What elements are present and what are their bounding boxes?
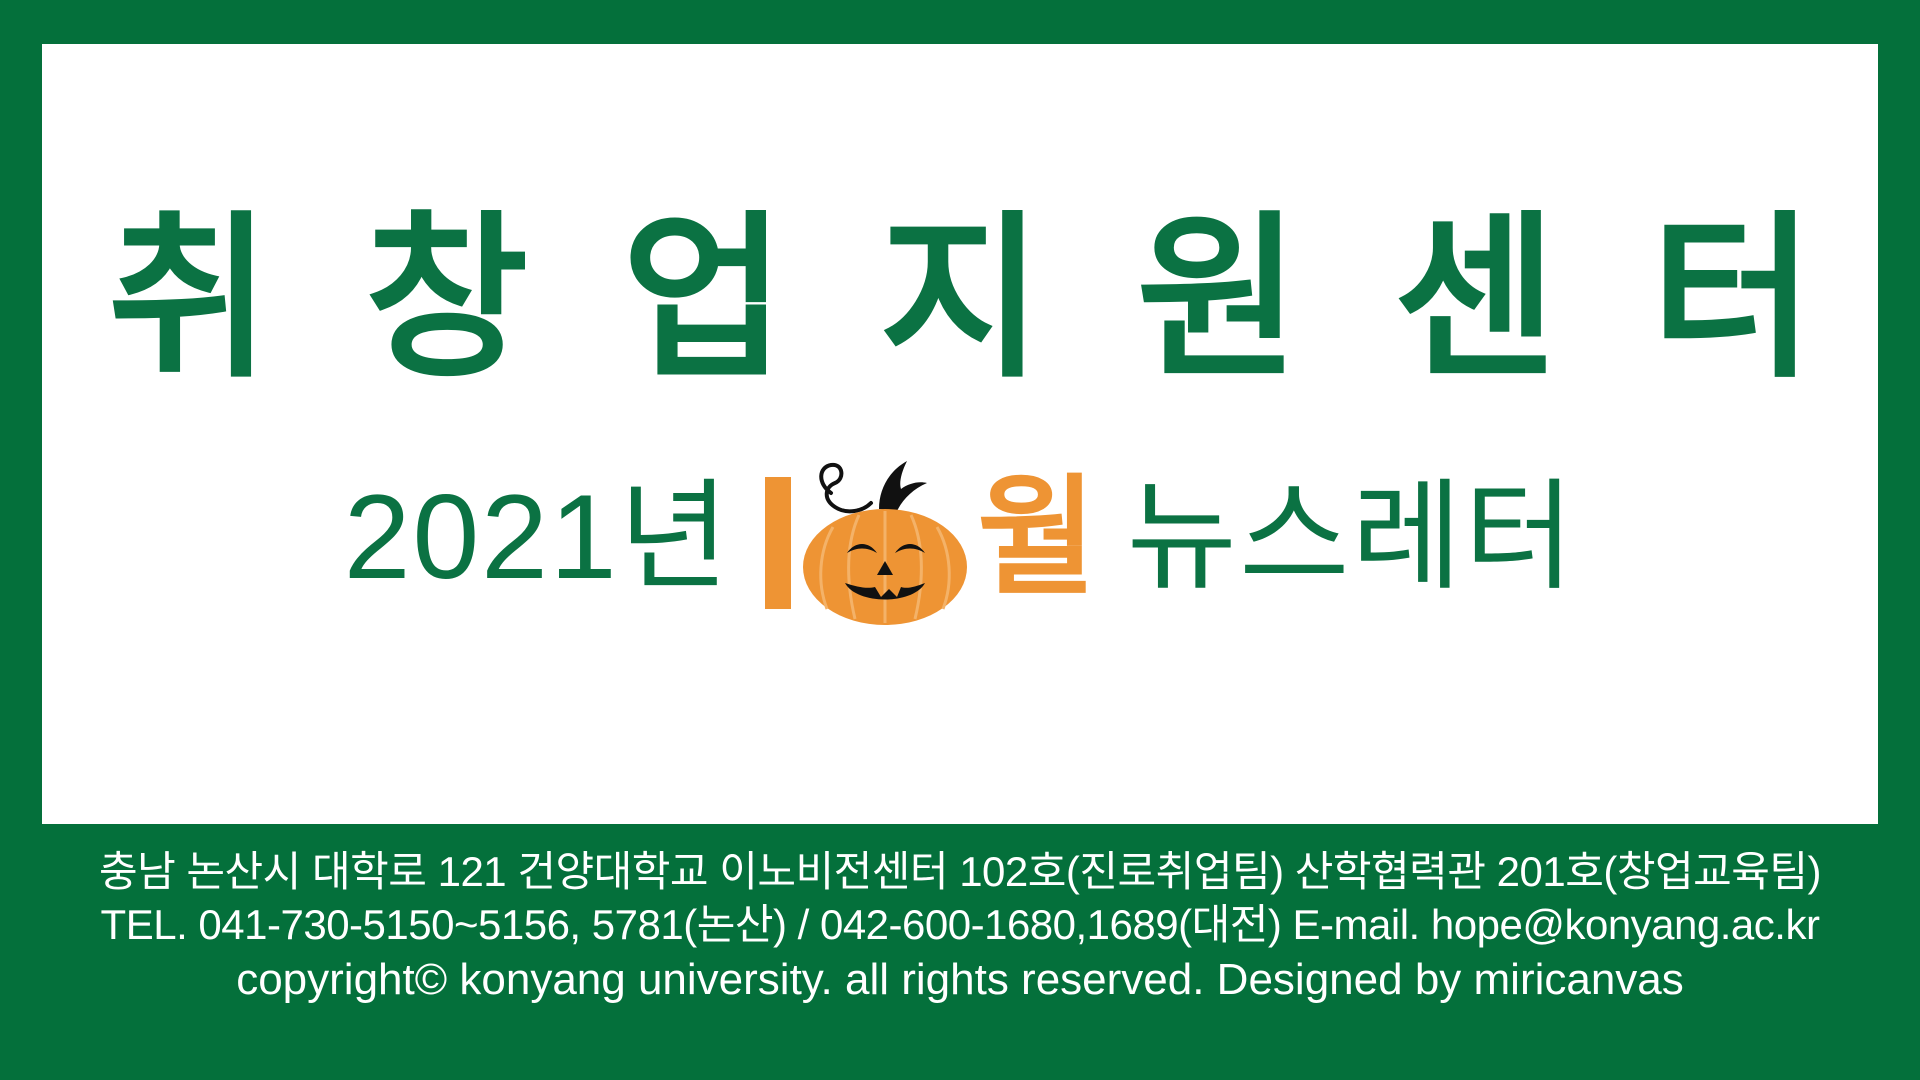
footer-copyright: copyright© konyang university. all right… [0, 952, 1920, 1007]
month-digit-one [765, 477, 791, 609]
footer: 충남 논산시 대학로 121 건양대학교 이노비전센터 102호(진로취업팀) … [0, 846, 1920, 1007]
footer-contact: TEL. 041-730-5150~5156, 5781(논산) / 042-6… [0, 899, 1920, 952]
page-title: 취 창 업 지 원 센 터 [107, 210, 1836, 388]
pumpkin-icon [801, 427, 973, 627]
subtitle-year: 2021년 [344, 477, 731, 597]
month-unit-label: 월 [977, 472, 1097, 602]
subtitle-doc-type: 뉴스레터 [1127, 477, 1577, 597]
footer-address: 충남 논산시 대학로 121 건양대학교 이노비전센터 102호(진로취업팀) … [0, 846, 1920, 899]
newsletter-poster: 취 창 업 지 원 센 터 2021년 [0, 0, 1920, 1080]
subtitle-month-group: 월 [765, 437, 1097, 637]
subtitle-row: 2021년 [344, 442, 1577, 632]
title-card: 취 창 업 지 원 센 터 2021년 [42, 44, 1878, 824]
